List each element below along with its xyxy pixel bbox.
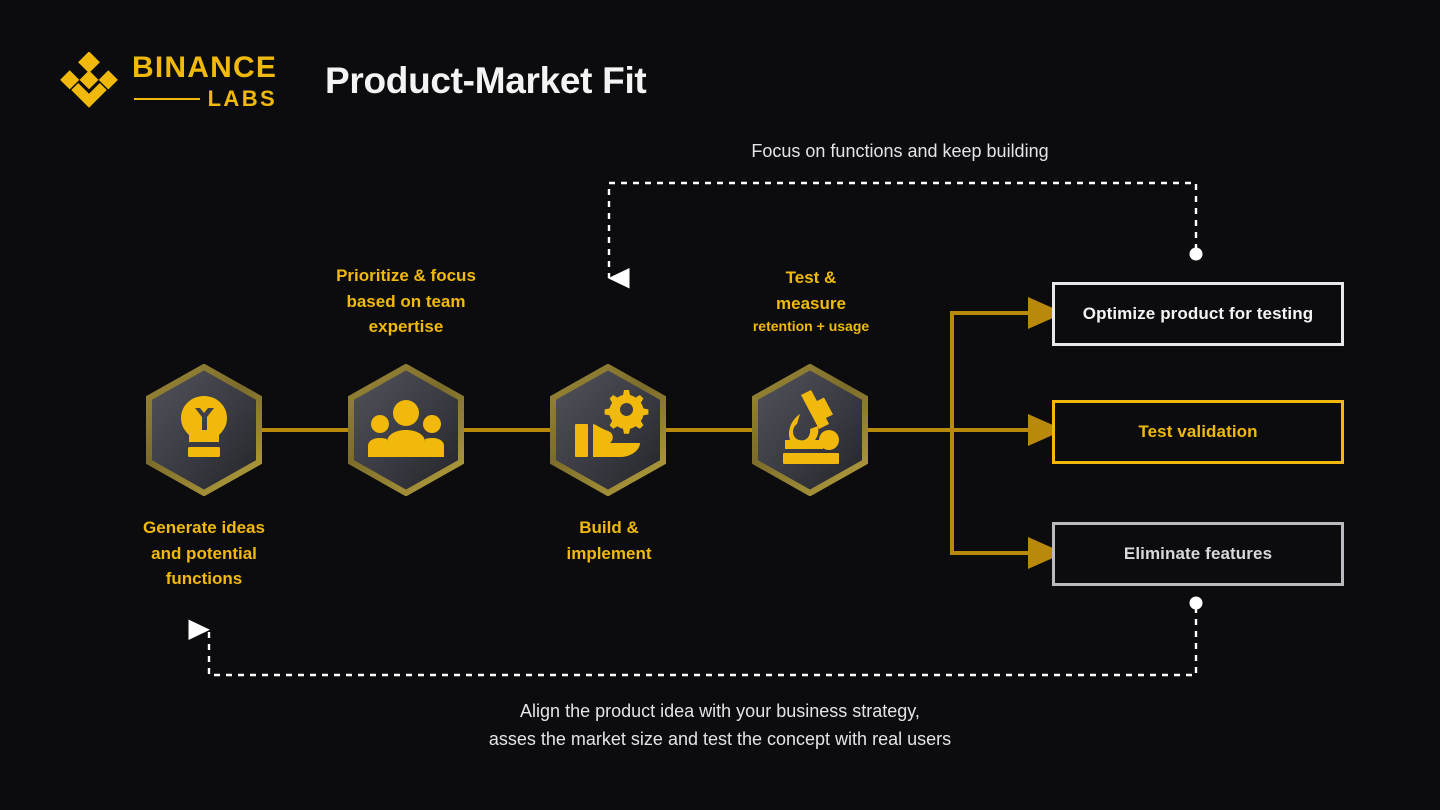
stage-label-test: Test & measure retention + usage: [730, 265, 892, 336]
outcome-box-optimize[interactable]: Optimize product for testing: [1052, 282, 1344, 346]
annotation-bottom-l2: asses the market size and test the conce…: [489, 729, 951, 749]
stage-label-build-l1: Build &: [579, 518, 639, 537]
logo-divider-rule: [134, 98, 200, 100]
stage-label-build-l2: implement: [566, 544, 651, 563]
feedback-path-bottom: [209, 607, 1196, 675]
feedback-dot-top: [1190, 248, 1203, 261]
page-title: Product-Market Fit: [325, 60, 646, 102]
feedback-loop-bottom: [209, 607, 1196, 675]
outcome-label-optimize: Optimize product for testing: [1083, 304, 1313, 324]
stage-label-test-sub: retention + usage: [730, 316, 892, 336]
stage-label-test-l2: measure: [776, 294, 846, 313]
stage-label-test-l1: Test &: [786, 268, 837, 287]
binance-diamond-icon: [60, 52, 118, 110]
annotation-top: Focus on functions and keep building: [620, 138, 1180, 166]
logo-wordmark: BINANCE LABS: [132, 53, 277, 110]
feedback-dot-bottom: [1190, 597, 1203, 610]
stage-node-prioritize[interactable]: [347, 364, 465, 496]
slide-header: BINANCE LABS Product-Market Fit: [0, 0, 1440, 150]
branch-connectors: [950, 313, 1034, 553]
annotation-bottom: Align the product idea with your busines…: [420, 698, 1020, 754]
slide-canvas: BINANCE LABS Product-Market Fit: [0, 0, 1440, 810]
stage-node-build[interactable]: [549, 364, 667, 496]
feedback-path-top: [609, 183, 1196, 278]
logo-sub-text: LABS: [208, 88, 278, 110]
outcome-box-test-validation[interactable]: Test validation: [1052, 400, 1344, 464]
stage-label-prioritize: Prioritize & focus based on team experti…: [316, 263, 496, 340]
stage-label-generate: Generate ideas and potential functions: [124, 515, 284, 592]
stage-label-generate-l1: Generate ideas: [143, 518, 265, 537]
annotation-bottom-l1: Align the product idea with your busines…: [520, 701, 920, 721]
stage-node-generate[interactable]: [145, 364, 263, 496]
outcome-label-validation: Test validation: [1138, 422, 1257, 442]
feedback-loop-top: [609, 183, 1196, 278]
hexagon-shape: [553, 367, 663, 493]
stage-label-build: Build & implement: [528, 515, 690, 566]
stage-label-prioritize-l3: expertise: [369, 317, 444, 336]
stage-label-generate-l2: and potential: [151, 544, 257, 563]
hexagon-shape: [755, 367, 865, 493]
stage-label-prioritize-l1: Prioritize & focus: [336, 266, 476, 285]
outcome-box-eliminate-features[interactable]: Eliminate features: [1052, 522, 1344, 586]
binance-labs-logo: BINANCE LABS: [60, 52, 277, 110]
stage-label-generate-l3: functions: [166, 569, 243, 588]
outcome-label-eliminate: Eliminate features: [1124, 544, 1272, 564]
stage-label-prioritize-l2: based on team: [346, 292, 465, 311]
logo-brand-text: BINANCE: [132, 53, 277, 83]
stage-node-test[interactable]: [751, 364, 869, 496]
